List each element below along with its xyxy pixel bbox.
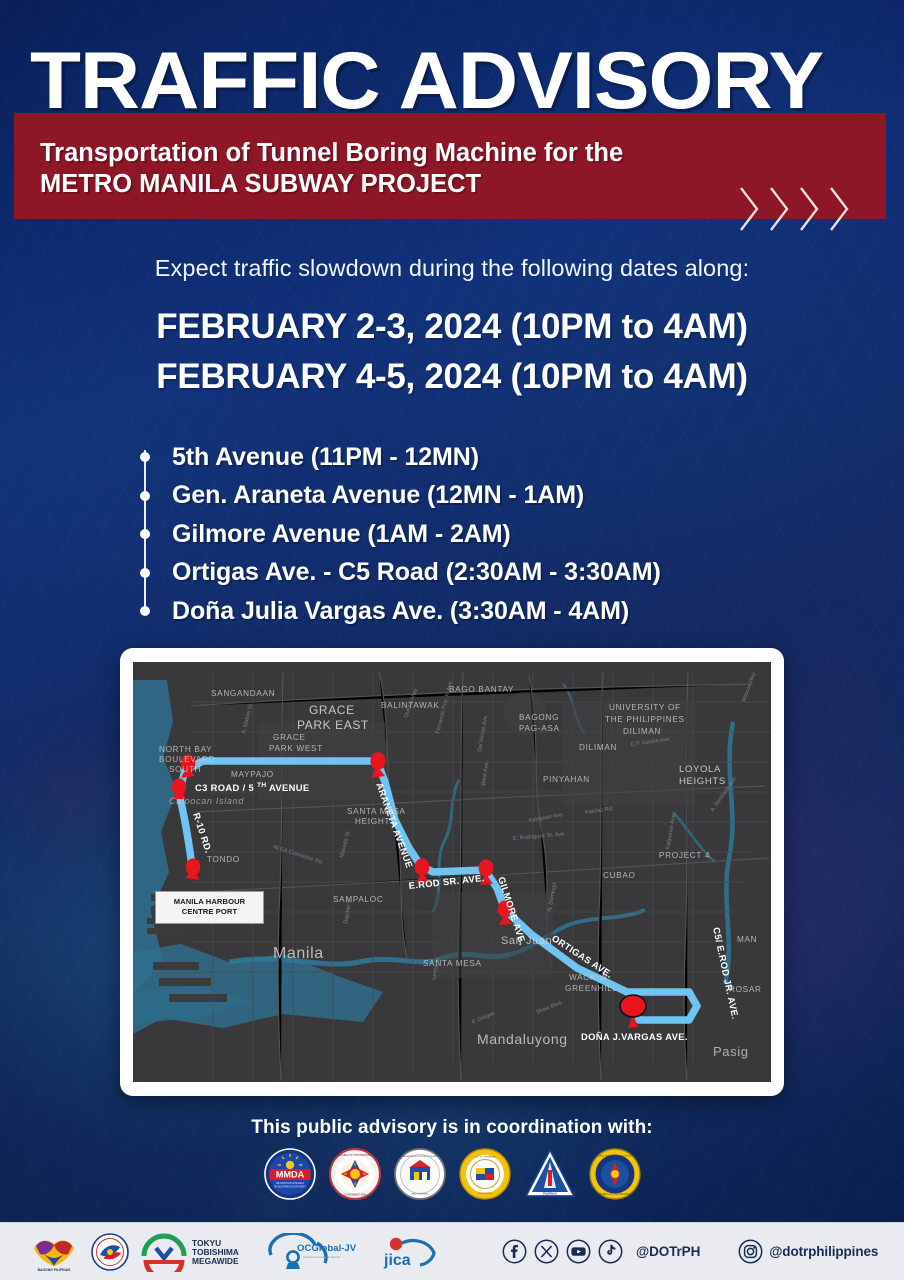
jica-label: jica (383, 1252, 411, 1269)
map-place-santa-mesa-heights-2: HEIGHTS (355, 817, 396, 826)
map-place-wack-wack: WACK-W (569, 973, 608, 982)
map-place-up-diliman-2: THE PHILIPPINES (605, 715, 685, 724)
svg-text:REPUBLIC OF THE PHILIPPINES: REPUBLIC OF THE PHILIPPINES (337, 1155, 373, 1157)
road-label: Ortigas Ave. - C5 Road (2:30AM - 3:30AM) (172, 558, 661, 587)
ocglobal-jv-logo: OCGlobal-JV Oriental Consultants Global (267, 1233, 369, 1271)
map-place-sampaloc: SAMPALOC (333, 895, 384, 904)
map-place-pasig: Pasig (713, 1044, 749, 1059)
tokyu-tobishima-megawide-logo: TOKYU TOBISHIMA MEGAWIDE (138, 1232, 258, 1272)
road-label: 5th Avenue (11PM - 12MN) (172, 443, 479, 472)
map-place-grace-park-east-2: PARK EAST (297, 718, 369, 732)
map-place-caloocan-island: Caloocan Island (169, 796, 244, 806)
social-icon-row: @DOTrPH (502, 1239, 700, 1264)
list-item: Gen. Araneta Avenue (12MN - 1AM) (140, 477, 870, 516)
coordination-agency-seals: MMDA METROPOLITAN MANILA DEVELOPMENT AUT… (0, 1148, 904, 1200)
map-place-mandaluyong: Mandaluyong (477, 1031, 568, 1047)
map-place-grace-park-east: GRACE (309, 703, 355, 717)
map-place-maypajo: MAYPAJO (231, 770, 274, 779)
dpwh-seal-icon: DEPARTMENT OF PUBLIC WORKS AND HIGHWAYS (394, 1148, 446, 1200)
map-place-grace-park-west: GRACE (273, 733, 306, 742)
map-place-bago-bantay: BAGO BANTAY (449, 685, 514, 694)
megawide-label: MEGAWIDE (192, 1256, 239, 1266)
footer-instagram-group: @dotrphilippines (738, 1239, 878, 1264)
dotr-seal-logo (91, 1233, 129, 1271)
facebook-icon[interactable] (502, 1239, 527, 1264)
map-place-grace-park-west-2: PARK WEST (269, 744, 323, 753)
list-item: Gilmore Avenue (1AM - 2AM) (140, 515, 870, 554)
bagong-pilipinas-label: BAGONG PILIPINAS (38, 1268, 72, 1272)
social-primary-handle: @DOTrPH (636, 1244, 700, 1259)
map-place-diliman: DILIMAN (579, 743, 617, 752)
bullet-dot-icon (140, 491, 150, 501)
route-map-card: .pl { fill:#cfd2d4; font-family:"Liberat… (120, 648, 784, 1096)
map-place-manila: Manila (273, 945, 324, 962)
bullet-dot-icon (140, 606, 150, 616)
svg-text:REPUBLIC OF THE PHILIPPINES: REPUBLIC OF THE PHILIPPINES (597, 1194, 633, 1196)
city-government-seal-icon: CITY GOVERNMENT PHILIPPINES (459, 1148, 511, 1200)
map-place-bagong-pagasa-2: PAG-ASA (519, 724, 560, 733)
svg-text:AND HIGHWAYS: AND HIGHWAYS (411, 1193, 428, 1196)
advisory-dates: FEBRUARY 2-3, 2024 (10PM to 4AM) FEBRUAR… (0, 302, 904, 401)
map-place-loyola-heights-2: HEIGHTS (679, 776, 726, 787)
map-origin-label-line-2: CENTRE PORT (159, 907, 260, 917)
map-place-santa-mesa: SANTA MESA (423, 959, 482, 968)
svg-text:DEVELOPMENT AUTHORITY: DEVELOPMENT AUTHORITY (273, 1185, 306, 1188)
list-item: Ortigas Ave. - C5 Road (2:30AM - 3:30AM) (140, 554, 870, 593)
map-place-santa-mesa-heights: SANTA MESA (347, 807, 406, 816)
list-item: Doña Julia Vargas Ave. (3:30AM - 4AM) (140, 592, 870, 631)
bullet-dot-icon (140, 529, 150, 539)
map-place-loyola-heights: LOYOLA (679, 764, 721, 775)
route-label-c3-5th: C3 ROAD / 5 (195, 782, 254, 793)
svg-text:PHILIPPINES: PHILIPPINES (478, 1193, 492, 1195)
route-label-5th-avenue: AVENUE (269, 782, 309, 793)
list-item: 5th Avenue (11PM - 12MN) (140, 438, 870, 477)
youtube-icon[interactable] (566, 1239, 591, 1264)
ocglobal-jv-label: OCGlobal-JV (297, 1243, 357, 1254)
route-label-dona-vargas: DOÑA J.VARGAS AVE. (581, 1031, 688, 1042)
ocglobal-jv-subtitle: Oriental Consultants Global (303, 1255, 340, 1259)
tiktok-icon[interactable] (598, 1239, 623, 1264)
instagram-handle: @dotrphilippines (769, 1244, 878, 1259)
map-place-up-diliman-1: UNIVERSITY OF (609, 703, 681, 712)
lto-seal-icon: LAND TRANSPORTATION OFFICE REPUBLIC OF T… (589, 1148, 641, 1200)
map-place-pinyahan: PINYAHAN (543, 775, 590, 784)
road-label: Gilmore Avenue (1AM - 2AM) (172, 520, 511, 549)
map-place-man: MAN (737, 935, 757, 944)
header: TRAFFIC ADVISORY Transportation of Tunne… (0, 0, 904, 232)
footer-bar: BAGONG PILIPINAS TOKYU TOBISHIMA MEGAWID… (0, 1222, 904, 1280)
svg-text:PILIPINAS: PILIPINAS (543, 1192, 557, 1196)
map-place-san-juan: San Juan (501, 935, 552, 947)
map-place-rosar: ROSAR (729, 985, 762, 994)
page-subtitle: Transportation of Tunnel Boring Machine … (40, 138, 860, 199)
affected-roads-list: 5th Avenue (11PM - 12MN) Gen. Araneta Av… (140, 438, 870, 631)
bullet-dot-icon (140, 452, 150, 462)
map-place-project-4: PROJECT 4 (659, 851, 710, 860)
bagong-pilipinas-logo: BAGONG PILIPINAS (26, 1232, 82, 1272)
route-label-superscript: TH (257, 782, 267, 789)
bullet-dot-icon (140, 568, 150, 578)
jica-logo: jica (378, 1233, 444, 1271)
map-place-bagong-pagasa: BAGONG (519, 713, 559, 722)
route-map: .pl { fill:#cfd2d4; font-family:"Liberat… (133, 662, 771, 1082)
advisory-lead-text: Expect traffic slowdown during the follo… (0, 255, 904, 282)
footer-social-primary: @DOTrPH (478, 1239, 700, 1264)
map-place-greenhills: GREENHILL (565, 984, 618, 993)
page-title: TRAFFIC ADVISORY (30, 44, 904, 119)
svg-text:DEPARTMENT OF PUBLIC WORKS: DEPARTMENT OF PUBLIC WORKS (402, 1155, 438, 1158)
x-twitter-icon[interactable] (534, 1239, 559, 1264)
map-place-sangandaan: SANGANDAAN (211, 689, 275, 698)
map-place-tondo: TONDO (207, 855, 240, 864)
coordination-caption: This public advisory is in coordination … (0, 1117, 904, 1139)
svg-text:GOVERNMENT SEAL: GOVERNMENT SEAL (343, 1194, 367, 1197)
svg-text:MMDA: MMDA (275, 1170, 304, 1180)
page-subtitle-line-1: Transportation of Tunnel Boring Machine … (40, 138, 860, 169)
svg-text:LAND TRANSPORTATION OFFICE: LAND TRANSPORTATION OFFICE (598, 1155, 632, 1158)
advisory-date-line: FEBRUARY 4-5, 2024 (10PM to 4AM) (0, 352, 904, 402)
instagram-icon[interactable] (738, 1239, 763, 1264)
republic-philippines-seal-icon: REPUBLIC OF THE PHILIPPINES GOVERNMENT S… (329, 1148, 381, 1200)
map-place-cubao: CUBAO (603, 871, 636, 880)
map-place-up-diliman-3: DILIMAN (623, 727, 661, 736)
pnp-hpg-seal-icon: PILIPINAS (524, 1148, 576, 1200)
svg-text:CITY GOVERNMENT: CITY GOVERNMENT (474, 1157, 496, 1159)
map-place-nbbs-3: SOUTH (169, 765, 201, 774)
page-subtitle-line-2: METRO MANILA SUBWAY PROJECT (40, 169, 860, 200)
map-place-nbbs-1: NORTH BAY (159, 745, 212, 754)
route-map-graphic: .pl { fill:#cfd2d4; font-family:"Liberat… (133, 662, 771, 1082)
footer-partner-logos: BAGONG PILIPINAS TOKYU TOBISHIMA MEGAWID… (0, 1232, 444, 1272)
map-place-nbbs-2: BOULEVARD (159, 755, 215, 764)
advisory-date-line: FEBRUARY 2-3, 2024 (10PM to 4AM) (0, 302, 904, 352)
road-label: Doña Julia Vargas Ave. (3:30AM - 4AM) (172, 597, 629, 626)
map-origin-label-line-1: MANILA HARBOUR (159, 897, 260, 907)
map-origin-label: MANILA HARBOUR CENTRE PORT (155, 891, 264, 924)
road-label: Gen. Araneta Avenue (12MN - 1AM) (172, 481, 584, 510)
mmda-seal-icon: MMDA METROPOLITAN MANILA DEVELOPMENT AUT… (264, 1148, 316, 1200)
